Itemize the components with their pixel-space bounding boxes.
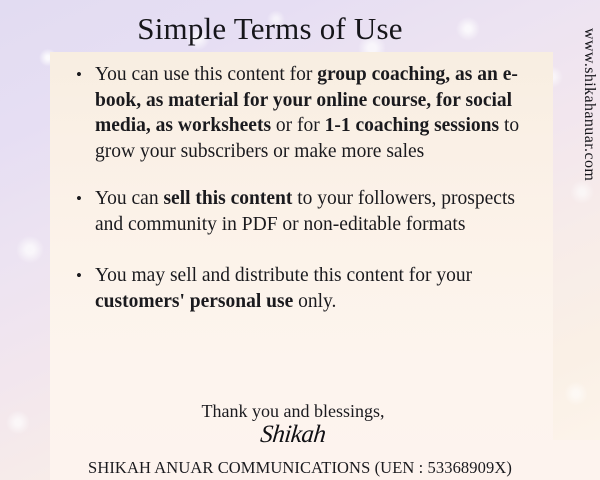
list-item: You can sell this content to your follow…	[72, 186, 532, 237]
company-registration: SHIKAH ANUAR COMMUNICATIONS (UEN : 53368…	[0, 458, 600, 478]
terms-of-use-page: Simple Terms of Use www.shikahanuar.com …	[0, 0, 600, 480]
website-url-vertical: www.shikahanuar.com	[568, 28, 598, 181]
page-title: Simple Terms of Use	[0, 10, 540, 48]
signature: Shikah	[70, 420, 515, 450]
terms-list: You can use this content for group coach…	[72, 62, 532, 314]
list-item: You can use this content for group coach…	[72, 62, 532, 164]
list-item: You may sell and distribute this content…	[72, 263, 532, 314]
closing-message: Thank you and blessings,	[72, 400, 514, 422]
